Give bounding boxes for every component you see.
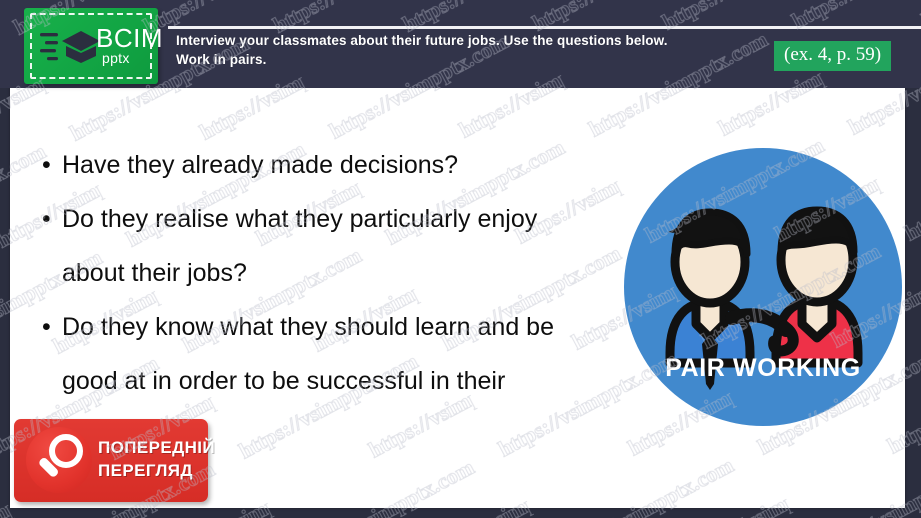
header-divider-rule [168, 26, 921, 29]
list-item-text: good at in order to be successful in the… [62, 367, 505, 395]
preview-badge[interactable]: ПОПЕРЕДНІЙ ПЕРЕГЛЯД [14, 419, 208, 502]
slide-preview-window: Interview your classmates about their fu… [0, 0, 921, 518]
graduation-cap-speed-icon [40, 28, 102, 66]
list-item-text: Have they already made decisions? [62, 151, 458, 179]
list-item: • Do they know what they should learn an… [40, 300, 630, 354]
question-list: • Have they already made decisions? • Do… [40, 138, 630, 408]
list-item: • Do they realise what they particularly… [40, 192, 630, 246]
task-instruction-line2: Work in pairs. [176, 50, 766, 69]
preview-badge-line1: ПОПЕРЕДНІЙ [98, 436, 215, 459]
list-item-continuation: about their jobs? [40, 246, 630, 300]
bullet-marker: • [42, 138, 51, 192]
logo-subtitle: pptx [102, 51, 130, 65]
preview-badge-label: ПОПЕРЕДНІЙ ПЕРЕГЛЯД [98, 436, 215, 482]
preview-badge-line2: ПЕРЕГЛЯД [98, 459, 215, 482]
list-item: • Have they already made decisions? [40, 138, 630, 192]
magnifier-icon [26, 427, 92, 493]
bullet-marker: • [42, 192, 51, 246]
logo-title: BCIM [96, 25, 163, 51]
pair-working-illustration: PAIR WORKING [624, 148, 902, 426]
list-item-text: Do they know what they should learn and … [62, 313, 554, 341]
task-instruction-line1: Interview your classmates about their fu… [176, 33, 668, 48]
list-item-continuation: good at in order to be successful in the… [40, 354, 630, 408]
illustration-caption: PAIR WORKING [624, 354, 902, 383]
task-instruction: Interview your classmates about their fu… [176, 31, 766, 69]
bullet-marker: • [42, 300, 51, 354]
bcim-logo[interactable]: BCIM pptx [24, 8, 158, 84]
exercise-reference-badge: (ex. 4, p. 59) [774, 41, 891, 71]
two-people-icon [624, 148, 902, 426]
list-item-text: Do they realise what they particularly e… [62, 205, 537, 233]
list-item-text: about their jobs? [62, 259, 247, 287]
